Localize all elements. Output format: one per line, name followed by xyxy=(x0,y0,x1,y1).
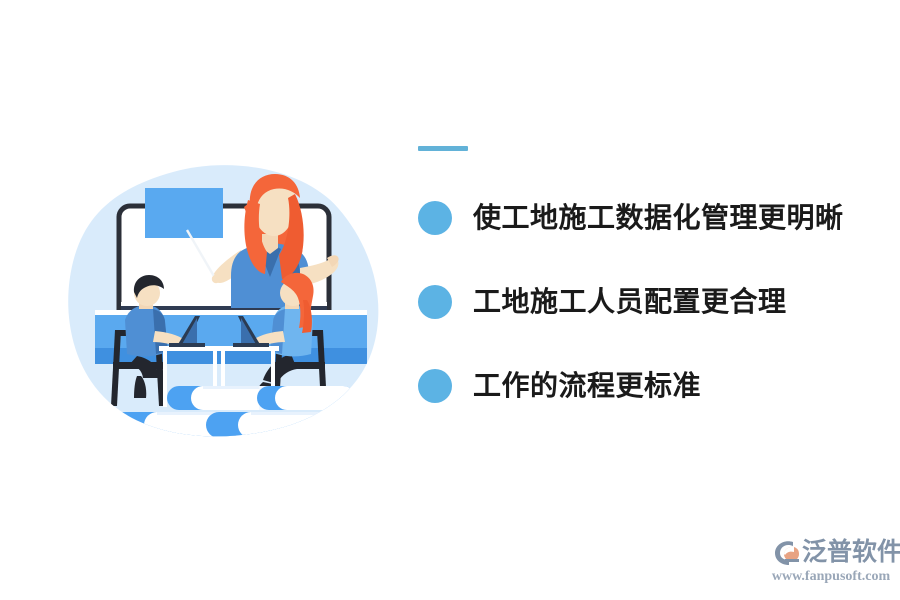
bullet-item-label: 使工地施工数据化管理更明晰 xyxy=(473,201,844,235)
logo-row: 泛普软件 xyxy=(770,536,892,568)
brand-url: www.fanpusoft.com xyxy=(770,568,892,585)
bullet-item-label: 工作的流程更标准 xyxy=(473,369,701,403)
bullet-dot-icon xyxy=(418,285,452,319)
accent-rule xyxy=(418,146,468,151)
list-item: 使工地施工数据化管理更明晰 xyxy=(418,176,878,260)
fanpu-logo-icon xyxy=(770,537,800,567)
brand-name: 泛普软件 xyxy=(802,537,900,567)
list-item: 工地施工人员配置更合理 xyxy=(418,260,878,344)
bullet-dot-icon xyxy=(418,369,452,403)
online-classroom-illustration xyxy=(55,150,405,450)
presentation-slide xyxy=(145,188,223,238)
bullet-dot-icon xyxy=(418,201,452,235)
content-column: 使工地施工数据化管理更明晰 工地施工人员配置更合理 工作的流程更标准 xyxy=(418,140,878,420)
list-item: 工作的流程更标准 xyxy=(418,344,878,428)
bullet-item-label: 工地施工人员配置更合理 xyxy=(473,285,787,319)
brand-watermark: 泛普软件 www.fanpusoft.com xyxy=(770,536,892,588)
slide-canvas: 使工地施工数据化管理更明晰 工地施工人员配置更合理 工作的流程更标准 xyxy=(0,0,900,600)
benefits-bullet-list: 使工地施工数据化管理更明晰 工地施工人员配置更合理 工作的流程更标准 xyxy=(418,176,878,428)
